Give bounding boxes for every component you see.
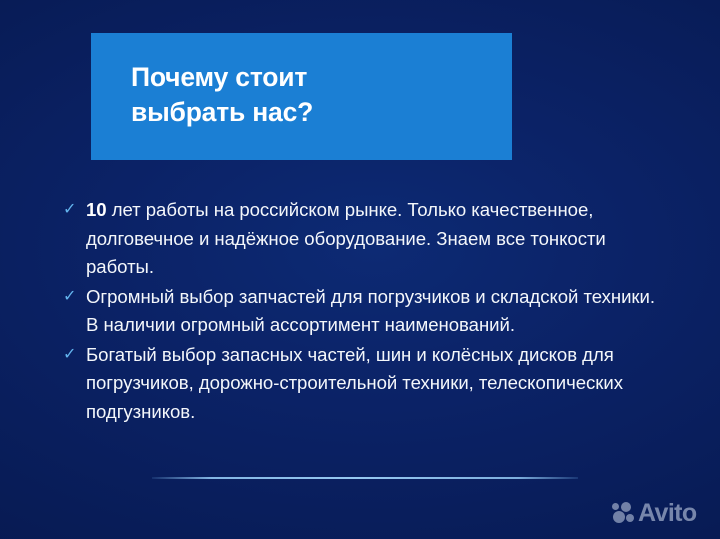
check-icon: ✓ [62,283,86,312]
check-icon: ✓ [62,341,86,370]
avito-dot-medium-top [621,502,631,512]
list-item: ✓ Богатый выбор запасных частей, шин и к… [62,341,672,427]
list-item-text: Богатый выбор запасных частей, шин и кол… [86,341,672,427]
list-item-body: лет работы на российском рынке. Только к… [86,199,606,277]
list-item: ✓ 10 лет работы на российском рынке. Тол… [62,196,672,282]
list-item-text: Огромный выбор запчастей для погрузчиков… [86,283,672,340]
check-icon: ✓ [62,196,86,225]
avito-dot-large [613,511,625,523]
list-item-body: Богатый выбор запасных частей, шин и кол… [86,344,623,422]
avito-dot-small-bottom [626,514,634,522]
avito-dot-small-top [612,503,619,510]
avito-wordmark: Avito [638,498,697,529]
avito-watermark: Avito [612,498,708,530]
slide-canvas: Почему стоит выбрать нас? ✓ 10 лет работ… [0,0,720,539]
section-divider [152,477,578,479]
title-banner: Почему стоит выбрать нас? [91,33,512,160]
benefits-list: ✓ 10 лет работы на российском рынке. Тол… [62,196,672,427]
page-title: Почему стоит выбрать нас? [131,60,500,130]
list-item: ✓ Огромный выбор запчастей для погрузчик… [62,283,672,340]
avito-dots-icon [612,502,637,524]
list-item-text: 10 лет работы на российском рынке. Тольк… [86,196,672,282]
list-item-body: Огромный выбор запчастей для погрузчиков… [86,286,655,336]
list-item-lead: 10 [86,199,107,220]
